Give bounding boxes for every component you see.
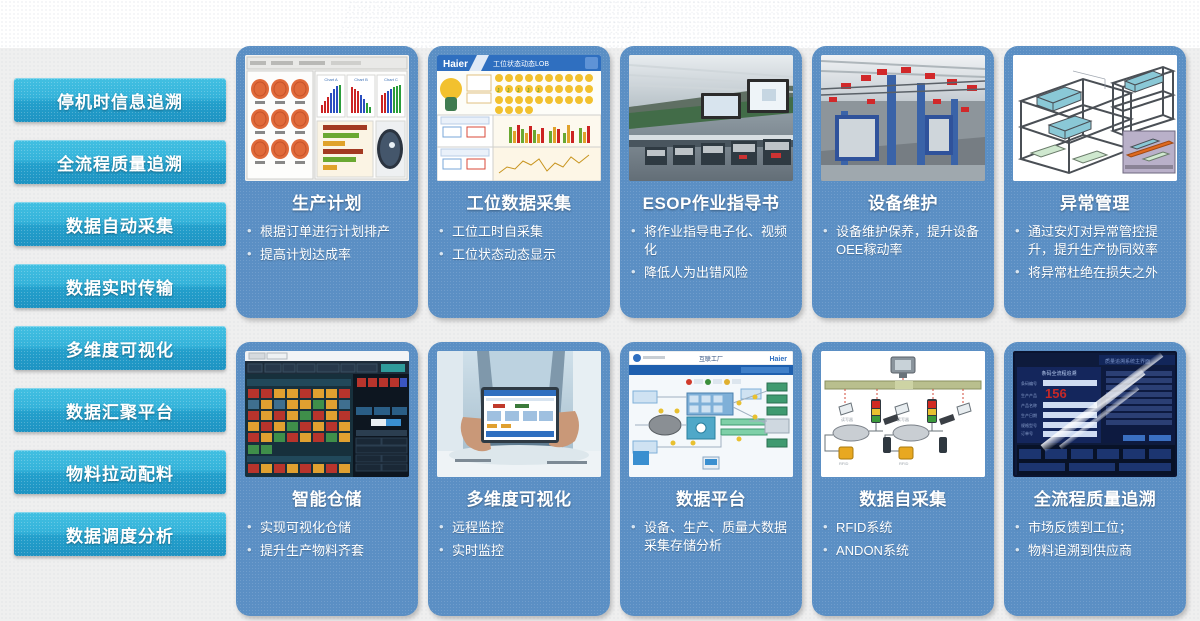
card-bullet-list: 实现可视化仓储 提升生产物料齐套: [245, 519, 409, 565]
svg-text:156: 156: [1045, 386, 1067, 401]
card-full-process-quality-tracing[interactable]: 质量追溯系统主界面 条码全流程追溯 条码编号生产产品 产品名称生产日期 规格型号…: [1004, 342, 1186, 616]
card-multidim-visualization[interactable]: 多维度可视化 远程监控 实时监控: [428, 342, 610, 616]
card-title: 工位数据采集: [437, 195, 601, 214]
svg-text:Chart A: Chart A: [324, 77, 338, 82]
card-bullet-list: 远程监控 实时监控: [437, 519, 601, 565]
card-bullet: 实时监控: [439, 542, 601, 560]
svg-text:互联工厂: 互联工厂: [699, 355, 723, 363]
card-bullet-list: RFID系统 ANDON系统: [821, 519, 985, 565]
quality-tracing-terminal-photo: 质量追溯系统主界面 条码全流程追溯 条码编号生产产品 产品名称生产日期 规格型号…: [1013, 351, 1177, 477]
card-bullet: 将作业指导电子化、视频化: [631, 223, 793, 259]
capability-sidebar: 停机时信息追溯 全流程质量追溯 数据自动采集 数据实时传输 多维度可视化 数据汇…: [14, 78, 226, 556]
sidebar-item-scheduling-analysis[interactable]: 数据调度分析: [14, 512, 226, 556]
card-title: ESOP作业指导书: [629, 195, 793, 214]
production-line-photo: [629, 55, 793, 181]
sidebar-item-multidim-visualization[interactable]: 多维度可视化: [14, 326, 226, 370]
card-bullet: 根据订单进行计划排产: [247, 223, 409, 241]
svg-text:RFID: RFID: [839, 461, 848, 466]
card-bullet: 市场反馈到工位；: [1015, 519, 1177, 537]
card-auto-data-collection[interactable]: RFIDRFID 读写器读写器 数据自采集 RFID系统 ANDON系统: [812, 342, 994, 616]
card-bullet: 设备维护保养，提升设备OEE稼动率: [823, 223, 985, 259]
sidebar-item-data-aggregation-platform[interactable]: 数据汇聚平台: [14, 388, 226, 432]
svg-text:条码编号: 条码编号: [1021, 380, 1037, 386]
card-bullet-list: 将作业指导电子化、视频化 降低人为出错风险: [629, 223, 793, 287]
card-bullet: RFID系统: [823, 519, 985, 537]
svg-text:生产日期: 生产日期: [1021, 412, 1037, 418]
svg-text:生产产品: 生产产品: [1021, 392, 1037, 398]
card-bullet: 通过安灯对异常管控提升，提升生产协同效率: [1015, 223, 1177, 259]
sidebar-item-label: 全流程质量追溯: [57, 150, 183, 175]
sidebar-item-label: 数据调度分析: [66, 522, 174, 547]
sidebar-item-realtime-transmission[interactable]: 数据实时传输: [14, 264, 226, 308]
card-title: 数据平台: [629, 491, 793, 510]
card-bullet: 工位状态动态显示: [439, 246, 601, 264]
svg-text:条码全流程追溯: 条码全流程追溯: [1041, 370, 1076, 377]
card-bullet-list: 根据订单进行计划排产 提高计划达成率: [245, 223, 409, 269]
svg-text:Haier: Haier: [443, 59, 468, 70]
sidebar-item-material-pull[interactable]: 物料拉动配料: [14, 450, 226, 494]
slide-root: 停机时信息追溯 全流程质量追溯 数据自动采集 数据实时传输 多维度可视化 数据汇…: [0, 0, 1200, 621]
card-production-plan[interactable]: Chart A Chart B Chart C: [236, 46, 418, 318]
card-smart-warehouse[interactable]: 智能仓储 实现可视化仓储 提升生产物料齐套: [236, 342, 418, 616]
card-title: 设备维护: [821, 195, 985, 214]
card-data-platform[interactable]: 互联工厂 Haier: [620, 342, 802, 616]
sidebar-item-quality-tracing[interactable]: 全流程质量追溯: [14, 140, 226, 184]
card-bullet: 远程监控: [439, 519, 601, 537]
card-bullet: 实现可视化仓储: [247, 519, 409, 537]
svg-text:Chart C: Chart C: [384, 77, 398, 82]
card-title: 多维度可视化: [437, 491, 601, 510]
card-bullet-list: 设备、生产、质量大数据采集存储分析: [629, 519, 793, 560]
sidebar-item-label: 停机时信息追溯: [57, 88, 183, 113]
card-bullet: 将异常杜绝在损失之外: [1015, 264, 1177, 282]
svg-text:RFID: RFID: [899, 461, 908, 466]
card-bullet-list: 工位工时自采集 工位状态动态显示: [437, 223, 601, 269]
rfid-andon-network-diagram: RFIDRFID 读写器读写器: [821, 351, 985, 477]
factory-conveyor-photo: [821, 55, 985, 181]
card-bullet-list: 通过安灯对异常管控提升，提升生产协同效率 将异常杜绝在损失之外: [1013, 223, 1177, 287]
card-title: 数据自采集: [821, 491, 985, 510]
card-title: 智能仓储: [245, 491, 409, 510]
card-bullet-list: 设备维护保养，提升设备OEE稼动率: [821, 223, 985, 264]
warehouse-map-screenshot: [245, 351, 409, 477]
tablet-in-hands-photo: [437, 351, 601, 477]
card-bullet: 工位工时自采集: [439, 223, 601, 241]
card-bullet: 提高计划达成率: [247, 246, 409, 264]
sidebar-item-label: 多维度可视化: [66, 336, 174, 361]
card-esop-work-instruction[interactable]: ESOP作业指导书 将作业指导电子化、视频化 降低人为出错风险: [620, 46, 802, 318]
svg-text:读写器: 读写器: [841, 416, 853, 422]
svg-text:质量追溯系统主界面: 质量追溯系统主界面: [1105, 358, 1150, 365]
svg-text:Chart B: Chart B: [354, 77, 368, 82]
card-title: 全流程质量追溯: [1013, 491, 1177, 510]
card-title: 生产计划: [245, 195, 409, 214]
svg-text:产品名称: 产品名称: [1021, 402, 1037, 408]
svg-text:规格型号: 规格型号: [1021, 422, 1037, 428]
card-bullet: 物料追溯到供应商: [1015, 542, 1177, 560]
card-bullet-list: 市场反馈到工位； 物料追溯到供应商: [1013, 519, 1177, 565]
card-bullet: ANDON系统: [823, 542, 985, 560]
card-bullet: 设备、生产、质量大数据采集存储分析: [631, 519, 793, 555]
svg-text:Haier: Haier: [769, 356, 787, 363]
sidebar-item-label: 数据实时传输: [66, 274, 174, 299]
conveyor-3d-cad-render: [1013, 55, 1177, 181]
sidebar-item-label: 数据汇聚平台: [66, 398, 174, 423]
card-abnormality-management[interactable]: 异常管理 通过安灯对异常管控提升，提升生产协同效率 将异常杜绝在损失之外: [1004, 46, 1186, 318]
sidebar-item-label: 数据自动采集: [66, 212, 174, 237]
card-bullet: 提升生产物料齐套: [247, 542, 409, 560]
sidebar-item-downtime-tracing[interactable]: 停机时信息追溯: [14, 78, 226, 122]
haier-workstation-board-screenshot: Haier 工位状态动态LOB: [437, 55, 601, 181]
svg-text:工位状态动态LOB: 工位状态动态LOB: [493, 59, 549, 68]
digital-factory-scada-screenshot: 互联工厂 Haier: [629, 351, 793, 477]
card-equipment-maintenance[interactable]: 设备维护 设备维护保养，提升设备OEE稼动率: [812, 46, 994, 318]
dashboard-charts-screenshot: Chart A Chart B Chart C: [245, 55, 409, 181]
card-workstation-data-collection[interactable]: Haier 工位状态动态LOB: [428, 46, 610, 318]
module-card-grid: Chart A Chart B Chart C: [236, 46, 1186, 616]
svg-text:读写器: 读写器: [897, 416, 909, 422]
card-title: 异常管理: [1013, 195, 1177, 214]
card-bullet: 降低人为出错风险: [631, 264, 793, 282]
sidebar-item-auto-data-collection[interactable]: 数据自动采集: [14, 202, 226, 246]
svg-text:订单号: 订单号: [1021, 430, 1033, 436]
sidebar-item-label: 物料拉动配料: [66, 460, 174, 485]
